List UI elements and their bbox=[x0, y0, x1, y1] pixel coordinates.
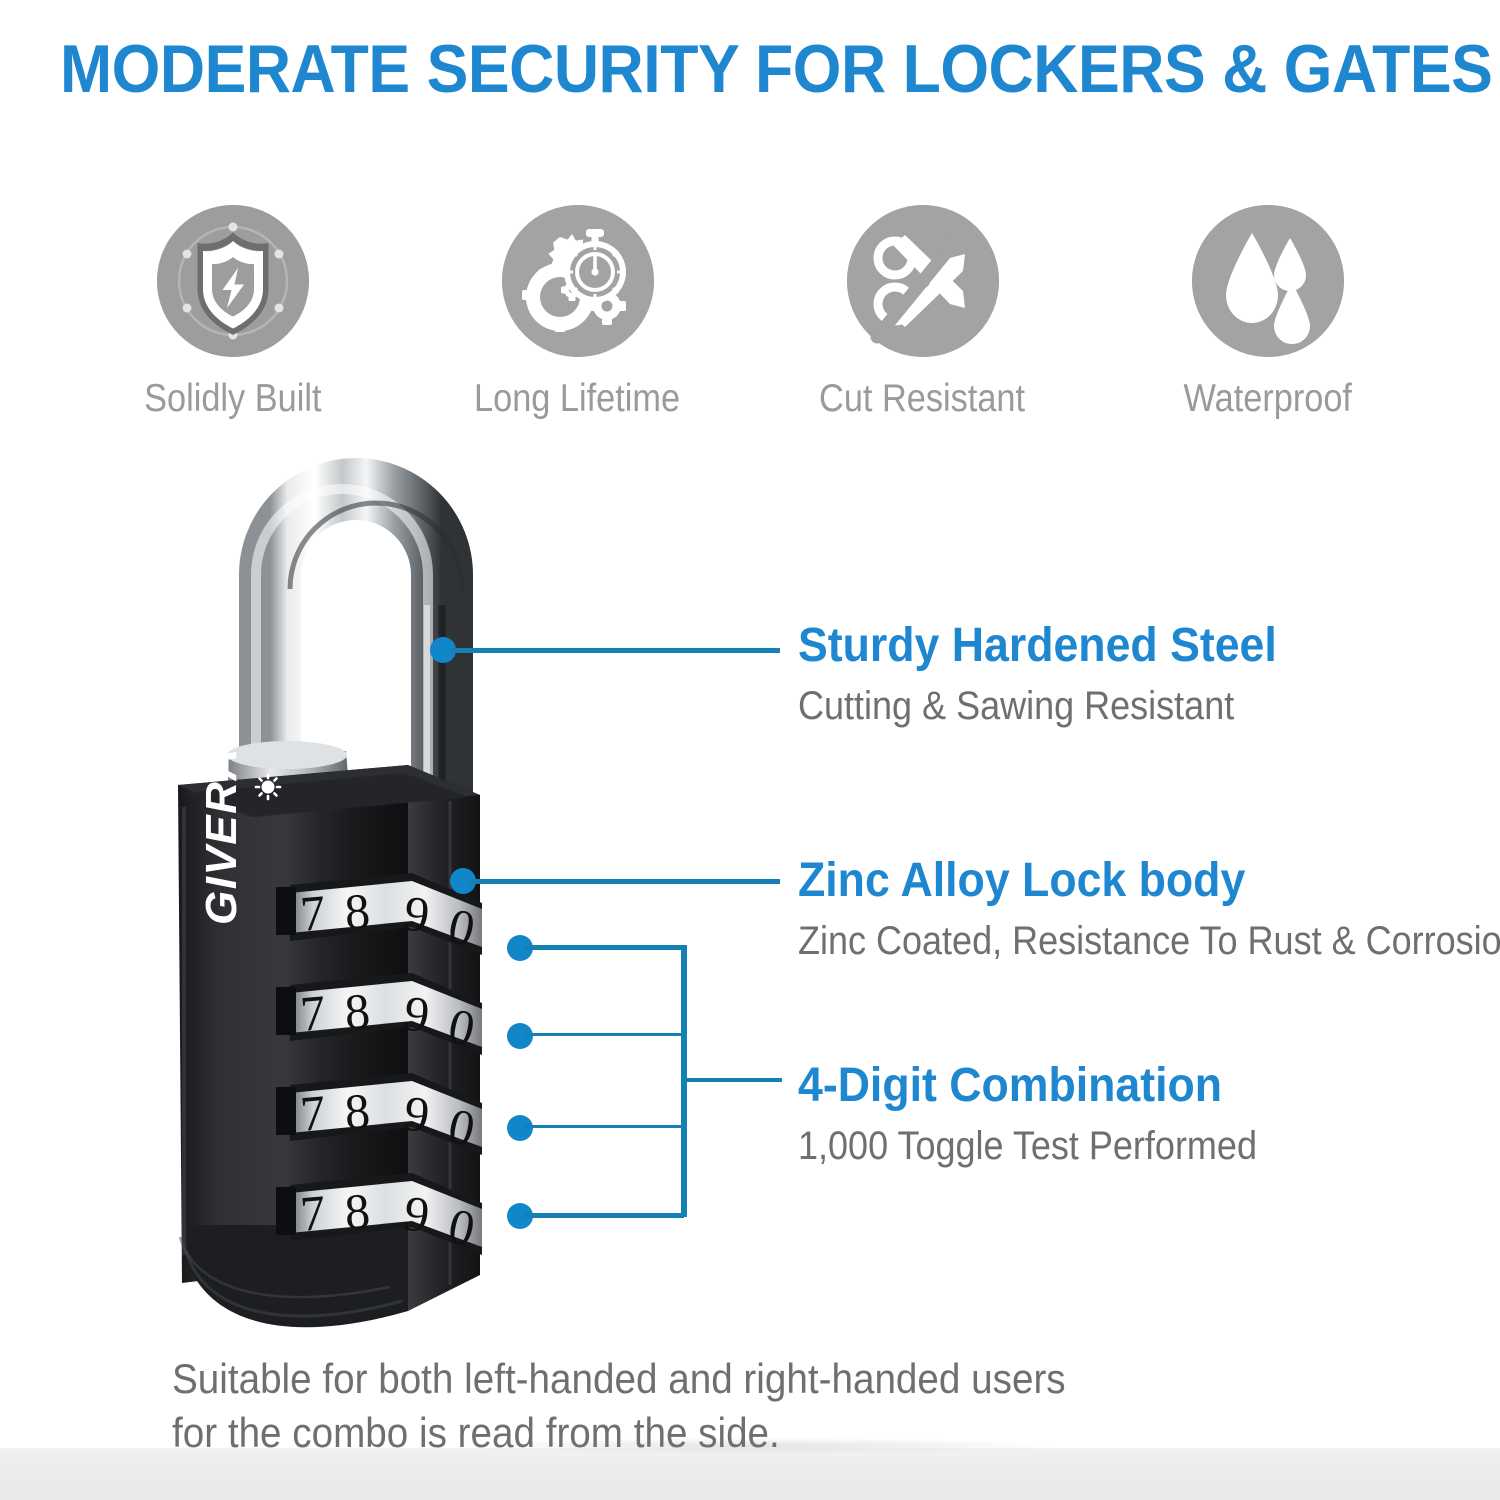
svg-text:8: 8 bbox=[343, 1182, 372, 1240]
page-title: MODERATE SECURITY FOR LOCKERS & GATES bbox=[60, 34, 1440, 105]
svg-text:7: 7 bbox=[298, 1184, 328, 1242]
feature-label: Solidly Built bbox=[144, 377, 321, 421]
callout-zinc-alloy-lock-body: Zinc Alloy Lock body Zinc Coated, Resist… bbox=[798, 855, 1500, 964]
svg-text:7: 7 bbox=[298, 984, 328, 1042]
callout-subtitle: Cutting & Sawing Resistant bbox=[798, 683, 1261, 729]
feature-long-lifetime: Long Lifetime bbox=[428, 205, 728, 421]
callout-sturdy-hardened-steel: Sturdy Hardened Steel Cutting & Sawing R… bbox=[798, 620, 1313, 729]
svg-text:7: 7 bbox=[298, 884, 328, 942]
leader-line-dial-1 bbox=[524, 945, 684, 950]
feature-solidly-built: Solidly Built bbox=[83, 205, 383, 421]
gears-stopwatch-icon bbox=[502, 205, 654, 357]
callout-title: Sturdy Hardened Steel bbox=[798, 620, 1277, 673]
leader-dot-dial-3 bbox=[507, 1115, 533, 1141]
callout-subtitle: Zinc Coated, Resistance To Rust & Corros… bbox=[798, 918, 1500, 964]
brand-text: GIVERARE bbox=[197, 683, 246, 925]
svg-text:8: 8 bbox=[343, 982, 372, 1040]
callout-4-digit-combination: 4-Digit Combination 1,000 Toggle Test Pe… bbox=[798, 1060, 1308, 1169]
svg-text:8: 8 bbox=[343, 1082, 372, 1140]
callout-title: 4-Digit Combination bbox=[798, 1060, 1272, 1113]
feature-waterproof: Waterproof bbox=[1118, 205, 1418, 421]
feature-cut-resistant: Cut Resistant bbox=[773, 205, 1073, 421]
infographic-canvas: MODERATE SECURITY FOR LOCKERS & GATES bbox=[0, 0, 1500, 1500]
feature-label: Cut Resistant bbox=[819, 377, 1025, 421]
bottom-caption: Suitable for both left-handed and right-… bbox=[172, 1352, 1101, 1460]
feature-label: Waterproof bbox=[1183, 377, 1351, 421]
svg-text:7: 7 bbox=[298, 1084, 328, 1142]
shield-bolt-icon bbox=[157, 205, 309, 357]
water-droplets-icon bbox=[1192, 205, 1344, 357]
leader-line-shackle bbox=[450, 648, 780, 653]
leader-line-dial-2 bbox=[524, 1033, 684, 1036]
leader-line-dial-4 bbox=[524, 1213, 684, 1218]
feature-label: Long Lifetime bbox=[474, 377, 680, 421]
leader-line-dial-3 bbox=[524, 1125, 684, 1128]
leader-dot-dial-2 bbox=[507, 1023, 533, 1049]
callout-title: Zinc Alloy Lock body bbox=[798, 855, 1500, 908]
svg-text:8: 8 bbox=[343, 882, 372, 940]
scissors-no-cut-icon bbox=[847, 205, 999, 357]
feature-icon-row: Solidly Built bbox=[60, 205, 1440, 465]
callout-subtitle: 1,000 Toggle Test Performed bbox=[798, 1123, 1257, 1169]
brand-sparkle-icon bbox=[256, 775, 280, 799]
leader-line-combination bbox=[687, 1078, 782, 1082]
leader-line-body bbox=[470, 879, 780, 884]
